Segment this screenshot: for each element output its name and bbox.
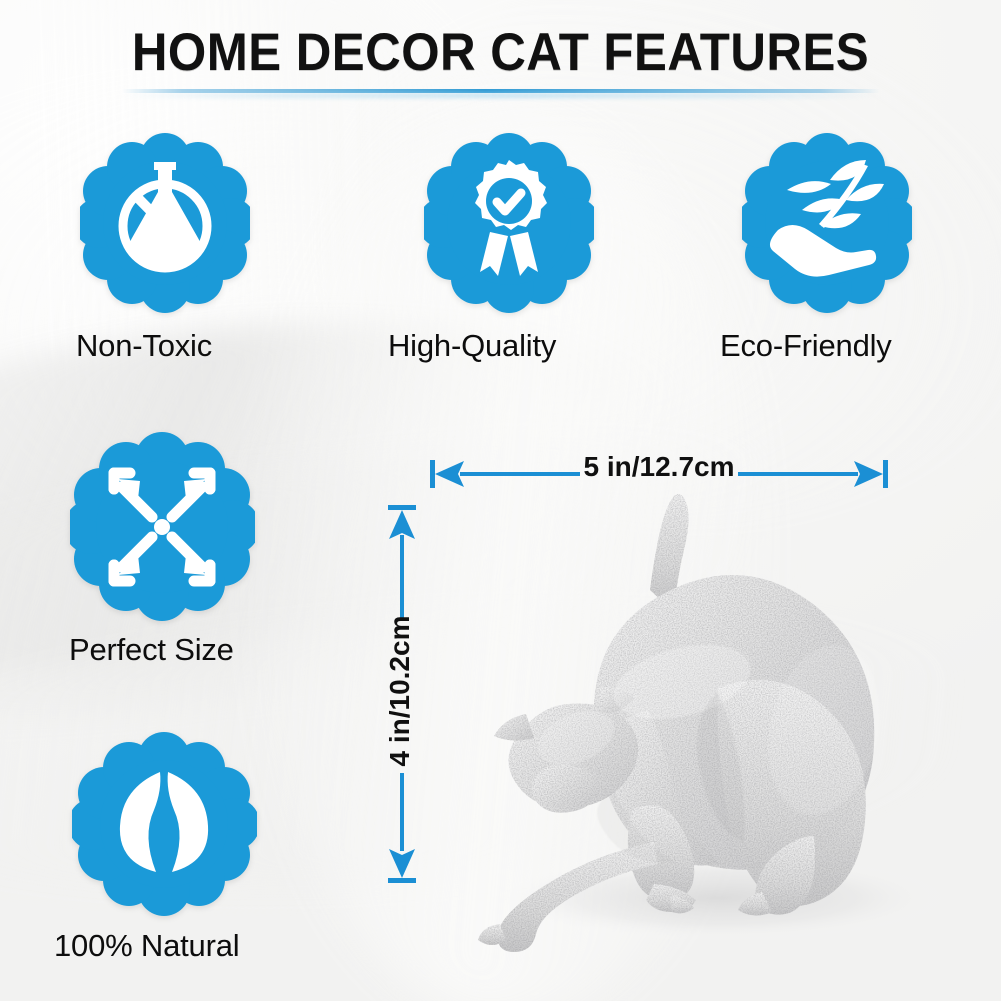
feature-non-toxic[interactable]: Non-Toxic (80, 128, 250, 318)
feature-high-quality[interactable]: High-Quality (424, 128, 594, 318)
feature-label: Perfect Size (69, 632, 234, 668)
two-leaves-icon (72, 728, 257, 918)
feature-label: Non-Toxic (76, 328, 212, 364)
award-ribbon-check-icon (424, 128, 594, 318)
feature-label: Eco-Friendly (720, 328, 892, 364)
feature-label: High-Quality (388, 328, 556, 364)
feature-perfect-size[interactable]: Perfect Size (70, 427, 255, 622)
height-dimension-label: 4 in/10.2cm (384, 511, 416, 871)
cat-figurine-image (418, 492, 1001, 952)
infographic-page: HOME DECOR CAT FEATURES (0, 0, 1001, 1001)
width-dimension: 5 in/12.7cm (430, 455, 888, 497)
feature-label: 100% Natural (54, 928, 239, 964)
width-dimension-label: 5 in/12.7cm (430, 451, 888, 483)
hand-holding-leaf-icon (742, 128, 912, 318)
feature-eco-friendly[interactable]: Eco-Friendly (742, 128, 912, 318)
page-title: HOME DECOR CAT FEATURES (35, 22, 966, 83)
expand-arrows-icon (70, 427, 255, 622)
feature-natural[interactable]: 100% Natural (72, 728, 257, 918)
title-underline-glow (122, 93, 880, 98)
no-toxic-flask-icon (80, 128, 250, 318)
